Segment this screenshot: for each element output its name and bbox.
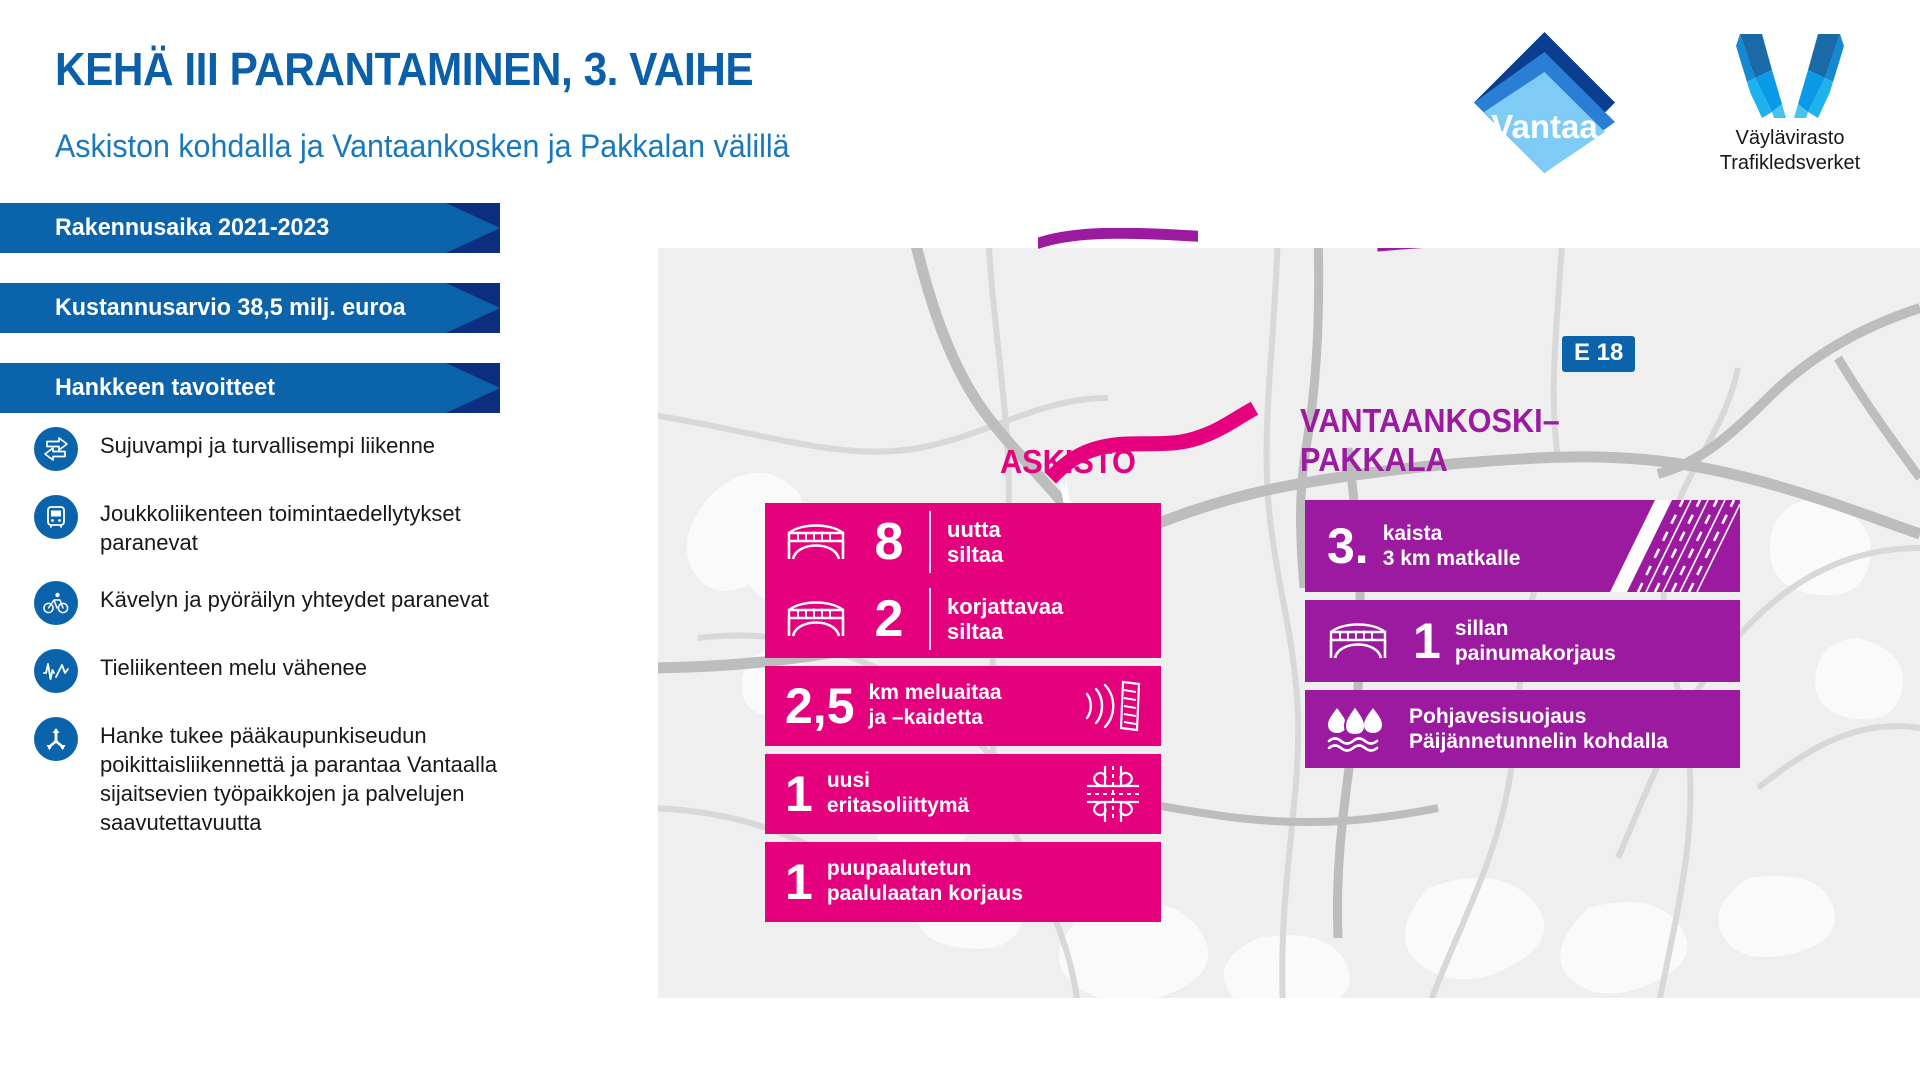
third-lane-label: kaista 3 km matkalle bbox=[1383, 521, 1521, 571]
askisto-facts-column: 8 uutta siltaa 2 bbox=[765, 503, 1161, 930]
label-line-2: siltaa bbox=[947, 542, 1003, 567]
goal-text: Tieliikenteen melu vähenee bbox=[100, 647, 367, 682]
bridge-repair-count: 1 bbox=[1413, 616, 1441, 666]
goal-item-traffic: Sujuvampi ja turvallisempi liikenne bbox=[34, 425, 554, 471]
lanes-icon bbox=[1550, 500, 1740, 592]
askisto-item-interchange: 1 uusi eritasoliittymä bbox=[765, 754, 1161, 834]
askisto-bridges-box: 8 uutta siltaa 2 bbox=[765, 503, 1161, 658]
vantaankoski-highlight-segment bbox=[1038, 228, 1198, 252]
banner-arrow-icon bbox=[446, 283, 500, 333]
page-subtitle: Askiston kohdalla ja Vantaankosken ja Pa… bbox=[55, 128, 790, 165]
label-line-1: km meluaitaa bbox=[869, 681, 1002, 706]
banner-label: Kustannusarvio 38,5 milj. euroa bbox=[55, 294, 406, 322]
vantaankoski-item-bridge-repair: 1 sillan painumakorjaus bbox=[1305, 600, 1740, 682]
goals-list: Sujuvampi ja turvallisempi liikenne Jouk… bbox=[34, 425, 554, 859]
label-line-2: paalulaatan korjaus bbox=[827, 882, 1023, 907]
banner-kustannusarvio[interactable]: Kustannusarvio 38,5 milj. euroa bbox=[0, 283, 500, 333]
goal-item-public-transport: Joukkoliikenteen toimintaedellytykset pa… bbox=[34, 493, 554, 557]
groundwater-label: Pohjavesisuojaus Päijännetunnelin kohdal… bbox=[1409, 704, 1668, 754]
two-way-arrows-icon bbox=[34, 427, 78, 471]
interchange-icon bbox=[1081, 764, 1145, 824]
sound-wave-icon bbox=[34, 649, 78, 693]
goal-item-accessibility: Hanke tukee pääkaupunkiseudun poikittais… bbox=[34, 715, 554, 837]
banner-arrow-icon bbox=[446, 363, 500, 413]
askisto-new-bridges-label: uutta siltaa bbox=[929, 511, 1003, 573]
label-line-2: Päijännetunnelin kohdalla bbox=[1409, 729, 1668, 754]
bridge-icon bbox=[1327, 616, 1389, 667]
svg-text:Vantaa: Vantaa bbox=[1491, 108, 1598, 145]
goal-text: Joukkoliikenteen toimintaedellytykset pa… bbox=[100, 493, 554, 557]
label-line-1: sillan bbox=[1455, 616, 1616, 641]
third-lane-number: 3. bbox=[1327, 521, 1369, 571]
bus-icon bbox=[34, 495, 78, 539]
map-label-vantaankoski-pakkala: VANTAANKOSKI– PAKKALA bbox=[1300, 402, 1560, 480]
askisto-new-bridges-count: 8 bbox=[861, 516, 917, 568]
label-line-2: siltaa bbox=[947, 619, 1063, 644]
goal-text: Hanke tukee pääkaupunkiseudun poikittais… bbox=[100, 715, 554, 837]
askisto-item-new-bridges: 8 uutta siltaa bbox=[765, 504, 1161, 581]
bicycle-icon bbox=[34, 581, 78, 625]
noise-barrier-icon bbox=[1079, 678, 1145, 734]
vaylavirasto-logo: Väylävirasto Trafikledsverket bbox=[1700, 30, 1880, 180]
askisto-repaired-bridges-label: korjattavaa siltaa bbox=[929, 588, 1063, 650]
banner-label: Hankkeen tavoitteet bbox=[55, 374, 275, 402]
banner-hankkeen-tavoitteet[interactable]: Hankkeen tavoitteet bbox=[0, 363, 500, 413]
bridge-icon bbox=[785, 594, 847, 645]
vantaankoski-facts-column: 3. kaista 3 km matkalle bbox=[1305, 500, 1740, 776]
vantaa-logo: Vantaa bbox=[1472, 30, 1617, 175]
askisto-item-pile-slab: 1 puupaalutetun paalulaatan korjaus bbox=[765, 842, 1161, 922]
banner-body: Hankkeen tavoitteet bbox=[0, 363, 446, 413]
vantaankoski-item-groundwater: Pohjavesisuojaus Päijännetunnelin kohdal… bbox=[1305, 690, 1740, 768]
goal-item-noise: Tieliikenteen melu vähenee bbox=[34, 647, 554, 693]
askisto-item-noise-barrier: 2,5 km meluaitaa ja –kaidetta bbox=[765, 666, 1161, 746]
vayla-v-mark bbox=[1700, 30, 1880, 118]
goal-text: Kävelyn ja pyöräilyn yhteydet paranevat bbox=[100, 579, 489, 614]
goal-text: Sujuvampi ja turvallisempi liikenne bbox=[100, 425, 435, 460]
bridge-icon bbox=[785, 517, 847, 568]
label-line-1: uutta bbox=[947, 517, 1003, 542]
banner-rakennusaika[interactable]: Rakennusaika 2021-2023 bbox=[0, 203, 500, 253]
label-line-2: 3 km matkalle bbox=[1383, 546, 1521, 571]
map-label-askisto: ASKISTO bbox=[1000, 443, 1136, 481]
road-badge-e18: E 18 bbox=[1562, 336, 1635, 372]
vayla-logo-text: Väylävirasto Trafikledsverket bbox=[1700, 126, 1880, 176]
label-line-2: ja –kaidetta bbox=[869, 706, 1002, 731]
bridge-repair-label: sillan painumakorjaus bbox=[1455, 616, 1616, 666]
label-line-2: eritasoliittymä bbox=[827, 794, 969, 819]
askisto-item-repaired-bridges: 2 korjattavaa siltaa bbox=[765, 581, 1161, 658]
branching-arrow-icon bbox=[34, 717, 78, 761]
pile-slab-count: 1 bbox=[785, 857, 813, 907]
label-line-1: korjattavaa bbox=[947, 594, 1063, 619]
label-line-2: painumakorjaus bbox=[1455, 641, 1616, 666]
interchange-count: 1 bbox=[785, 769, 813, 819]
banner-arrow-icon bbox=[446, 203, 500, 253]
label-line-1: puupaalutetun bbox=[827, 857, 1023, 882]
pile-slab-label: puupaalutetun paalulaatan korjaus bbox=[827, 857, 1023, 907]
banner-body: Rakennusaika 2021-2023 bbox=[0, 203, 446, 253]
askisto-repaired-bridges-count: 2 bbox=[861, 593, 917, 645]
infographic-root: KEHÄ III PARANTAMINEN, 3. VAIHE Askiston… bbox=[0, 0, 1920, 1080]
label-line-1: uusi bbox=[827, 769, 969, 794]
groundwater-icon bbox=[1327, 702, 1385, 757]
label-line-1: Pohjavesisuojaus bbox=[1409, 704, 1668, 729]
page-title: KEHÄ III PARANTAMINEN, 3. VAIHE bbox=[55, 42, 753, 96]
noise-barrier-label: km meluaitaa ja –kaidetta bbox=[869, 681, 1002, 731]
banner-body: Kustannusarvio 38,5 milj. euroa bbox=[0, 283, 446, 333]
goal-item-walking-cycling: Kävelyn ja pyöräilyn yhteydet paranevat bbox=[34, 579, 554, 625]
interchange-label: uusi eritasoliittymä bbox=[827, 769, 969, 819]
label-line-1: kaista bbox=[1383, 521, 1521, 546]
vayla-name-sv: Trafikledsverket bbox=[1700, 151, 1880, 176]
vayla-name-fi: Väylävirasto bbox=[1700, 126, 1880, 151]
noise-barrier-length: 2,5 bbox=[785, 681, 855, 731]
banner-label: Rakennusaika 2021-2023 bbox=[55, 214, 329, 242]
vantaankoski-item-third-lane: 3. kaista 3 km matkalle bbox=[1305, 500, 1740, 592]
